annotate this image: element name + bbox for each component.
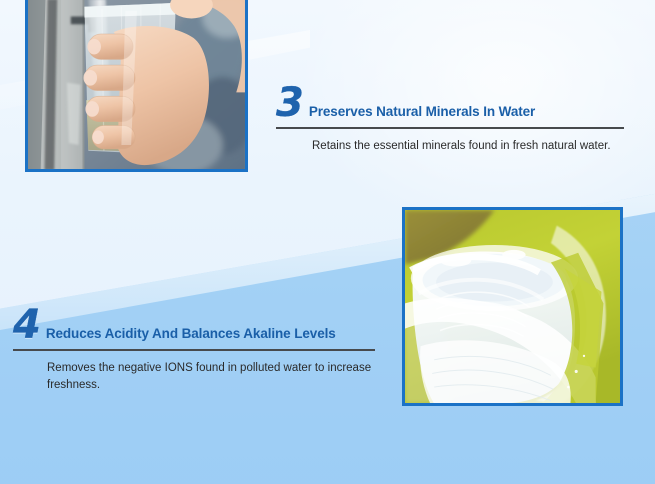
feature-block-4: 4 Reduces Acidity And Balances Akaline L… <box>13 306 377 393</box>
feature-4-number: 4 <box>13 307 40 344</box>
feature-4-description: Removes the negative IONS found in pollu… <box>13 360 377 393</box>
photo-clean-water <box>402 207 623 406</box>
feature-3-title: Preserves Natural Minerals In Water <box>309 104 535 122</box>
feature-3-divider <box>276 127 624 129</box>
feature-4-divider <box>13 349 375 351</box>
feature-3-description: Retains the essential minerals found in … <box>276 138 628 155</box>
dirty-water-illustration <box>28 0 245 170</box>
feature-panel: 3 Preserves Natural Minerals In Water Re… <box>0 0 655 484</box>
feature-3-number: 3 <box>276 85 303 122</box>
feature-block-3: 3 Preserves Natural Minerals In Water Re… <box>276 84 628 155</box>
feature-4-title: Reduces Acidity And Balances Akaline Lev… <box>46 326 336 344</box>
feature-3-header: 3 Preserves Natural Minerals In Water <box>276 84 628 122</box>
clean-water-illustration <box>405 210 620 404</box>
photo-dirty-water <box>25 0 248 172</box>
feature-4-header: 4 Reduces Acidity And Balances Akaline L… <box>13 306 377 344</box>
